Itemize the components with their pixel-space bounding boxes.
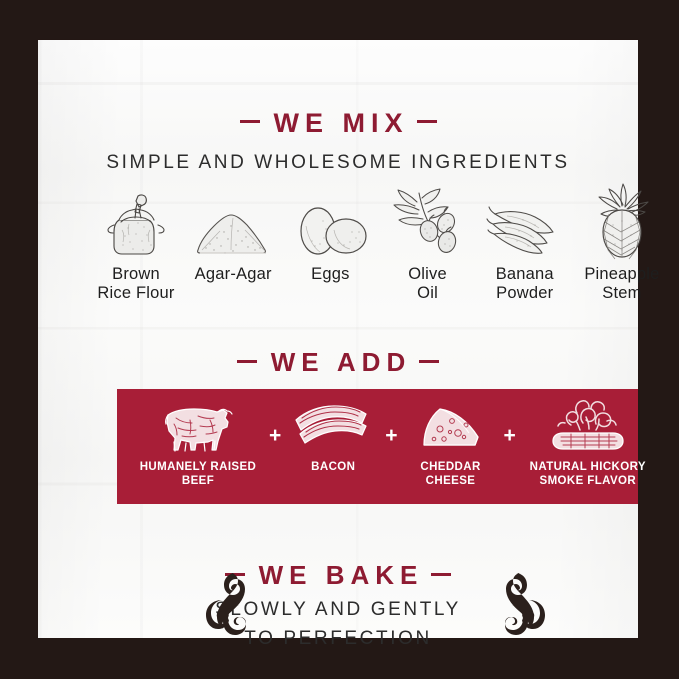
ingredient-label: Banana Powder	[496, 265, 554, 303]
olive-branch-icon	[386, 188, 470, 260]
we-bake-heading: WE BAKE	[38, 560, 638, 591]
ingredient-olive-oil: Olive Oil	[380, 188, 476, 303]
ingredient-banana-powder: Banana Powder	[477, 188, 573, 303]
add-item-label: BACON	[311, 460, 355, 474]
add-item-label: HUMANELY RAISED BEEF	[140, 460, 257, 488]
plus-separator-1: +	[269, 425, 281, 446]
we-bake-heading-text: WE BAKE	[259, 560, 424, 590]
bananas-icon	[483, 188, 567, 260]
add-item-bacon: BACON	[281, 389, 385, 504]
ingredient-label: Brown Rice Flour	[97, 265, 174, 303]
ingredient-brown-rice-flour: Brown Rice Flour	[88, 188, 184, 303]
we-bake-subheading: SLOWLY AND GENTLY TO PERFECTION	[38, 595, 638, 653]
ingredient-label: Olive Oil	[408, 265, 447, 303]
heading-dash-right	[431, 573, 451, 576]
we-mix-subheading: SIMPLE AND WHOLESOME INGREDIENTS	[38, 152, 638, 174]
cow-icon	[152, 397, 244, 455]
heading-dash-right	[417, 120, 437, 123]
bacon-strips-icon	[290, 397, 376, 455]
plus-separator-2: +	[385, 425, 397, 446]
eggs-icon	[290, 188, 370, 260]
ingredient-eggs: Eggs	[282, 188, 378, 284]
plus-separator-3: +	[504, 425, 516, 446]
we-add-banner: HUMANELY RAISED BEEF +	[117, 389, 638, 504]
powder-mound-icon	[192, 188, 274, 260]
ingredient-agar-agar: Agar-Agar	[185, 188, 281, 284]
add-item-label: CHEDDAR CHEESE	[420, 460, 480, 488]
smoking-logs-icon	[541, 397, 635, 455]
flourish-scroll-icon	[206, 570, 254, 643]
ingredients-row: Brown Rice Flour	[88, 188, 670, 313]
ingredient-pineapple-stem: Pineapple Stem	[574, 188, 670, 303]
flourish-scroll-mirrored-icon	[497, 570, 545, 643]
heading-dash-left	[240, 120, 260, 123]
ingredient-label: Pineapple Stem	[584, 265, 659, 303]
we-add-heading: WE ADD	[38, 347, 638, 378]
heading-dash-left	[237, 360, 257, 363]
add-item-smoke-flavor: NATURAL HICKORY SMOKE FLAVOR	[516, 389, 660, 504]
ingredient-label: Agar-Agar	[195, 265, 272, 284]
we-mix-heading-text: WE MIX	[274, 108, 409, 138]
add-item-label: NATURAL HICKORY SMOKE FLAVOR	[530, 460, 646, 488]
we-add-heading-text: WE ADD	[271, 347, 411, 377]
flour-sack-icon	[99, 188, 173, 260]
cheese-wedge-icon	[414, 397, 488, 455]
ingredient-label: Eggs	[311, 265, 349, 284]
add-item-beef: HUMANELY RAISED BEEF	[127, 389, 269, 504]
infographic-frame: WE MIX SIMPLE AND WHOLESOME INGREDIENTS	[0, 0, 679, 679]
we-mix-heading: WE MIX	[38, 108, 638, 139]
heading-dash-right	[419, 360, 439, 363]
pineapple-icon	[591, 188, 653, 260]
paper-background: WE MIX SIMPLE AND WHOLESOME INGREDIENTS	[38, 40, 638, 638]
add-item-cheese: CHEDDAR CHEESE	[398, 389, 504, 504]
